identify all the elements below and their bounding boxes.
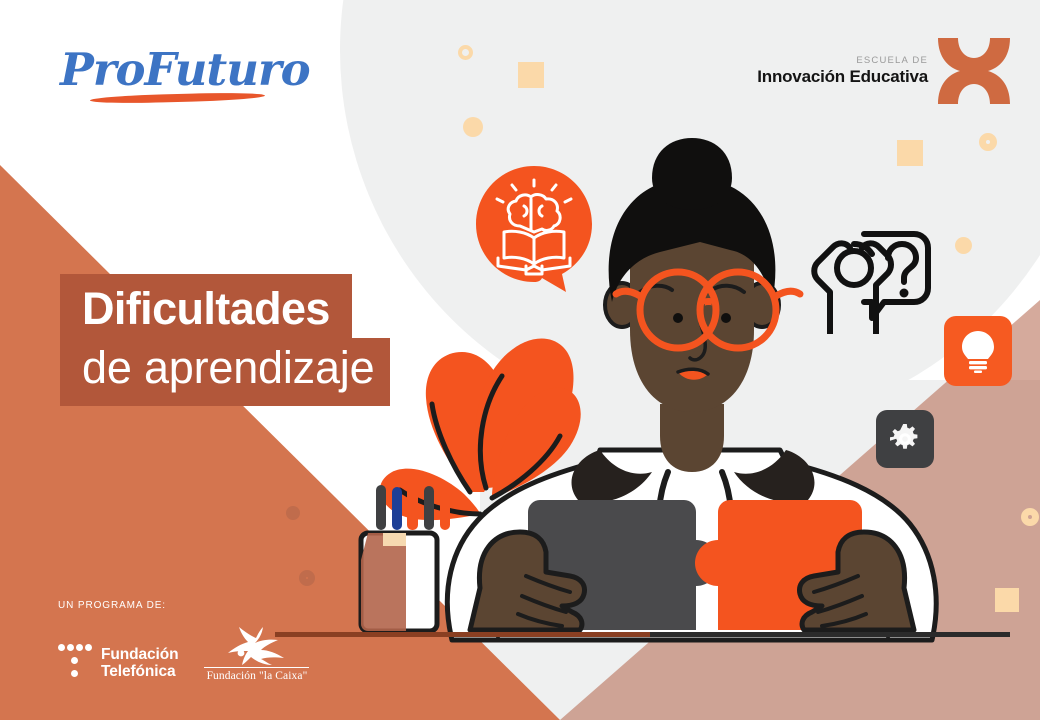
slide-canvas: ProFuturo ESCUELA DE Innovación Educativ…: [0, 0, 1040, 720]
x-logo-icon: [938, 38, 1010, 104]
lightbulb-icon: [944, 316, 1012, 386]
gear-icon: [876, 410, 934, 468]
title-line-1: Dificultades: [60, 274, 352, 340]
page-title: Dificultades de aprendizaje: [60, 274, 390, 406]
escuela-kicker: ESCUELA DE: [757, 55, 928, 66]
fundacion-telefonica-logo[interactable]: Fundación Telefónica: [58, 644, 178, 682]
caixa-star-icon: [226, 627, 288, 665]
title-line-2: de aprendizaje: [60, 338, 390, 406]
telefonica-name-line-1: Fundación: [101, 646, 178, 663]
profuturo-logo[interactable]: ProFuturo: [60, 42, 280, 104]
program-label: UN PROGRAMA DE:: [58, 600, 309, 611]
telefonica-name-line-2: Telefónica: [101, 663, 178, 680]
escuela-innovacion-logo[interactable]: ESCUELA DE Innovación Educativa: [757, 38, 1010, 104]
caixa-name: Fundación "la Caixa": [204, 670, 309, 682]
profuturo-logo-text: ProFuturo: [60, 42, 280, 98]
caixa-divider: [204, 667, 309, 668]
confused-person-question-icon: [806, 226, 938, 334]
escuela-name: Innovación Educativa: [757, 67, 928, 87]
sponsors-footer: UN PROGRAMA DE: Fundación Telefónica: [58, 600, 309, 682]
desk-line-dark: [650, 632, 1010, 637]
fundacion-la-caixa-logo[interactable]: Fundación "la Caixa": [204, 627, 309, 682]
student-head: [605, 138, 800, 412]
brain-book-bubble-icon: [476, 166, 596, 292]
telefonica-dots-icon: [58, 644, 92, 682]
